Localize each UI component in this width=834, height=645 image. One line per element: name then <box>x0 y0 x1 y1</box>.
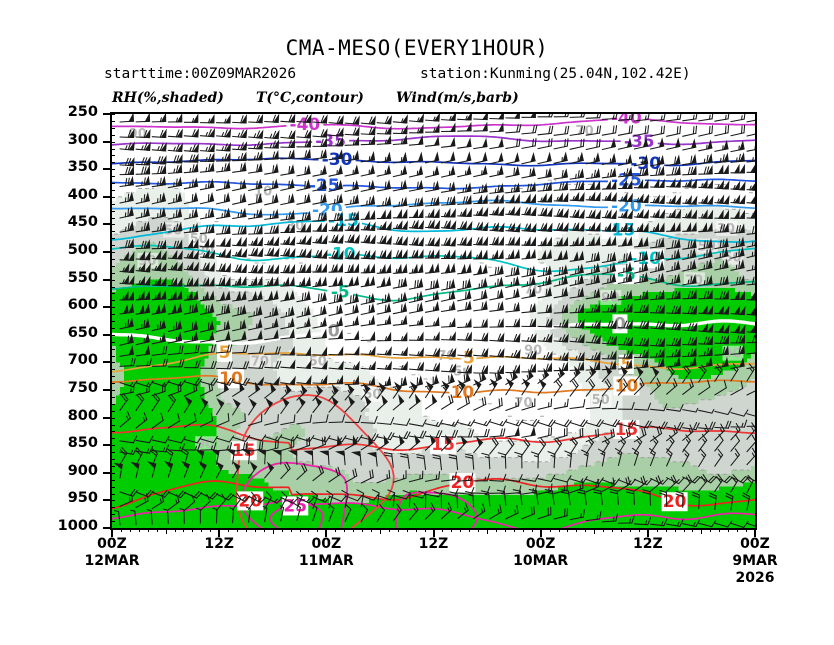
x-axis-minor-tick <box>657 529 658 532</box>
temp-contour--35 <box>112 136 755 145</box>
x-axis-label-1: 12Z <box>174 536 264 553</box>
y-axis-minor-tick <box>111 404 115 405</box>
y-axis-minor-tick <box>111 466 115 467</box>
y-axis-label-750: 750 <box>36 380 98 396</box>
y-axis-label-950: 950 <box>36 490 98 506</box>
x-axis-minor-tick <box>380 529 381 534</box>
y-axis-tick <box>103 417 111 419</box>
svg-text:10: 10 <box>219 369 243 389</box>
y-axis-label-300: 300 <box>36 132 98 148</box>
x-axis-minor-tick <box>353 529 354 532</box>
y-axis-minor-tick <box>111 342 115 343</box>
y-axis-minor-tick <box>111 149 115 150</box>
y-axis-minor-tick <box>111 500 115 501</box>
y-axis-minor-tick <box>111 135 115 136</box>
y-axis-minor-tick <box>111 280 115 281</box>
x-axis-minor-tick <box>398 529 399 532</box>
x-axis-minor-tick <box>541 529 542 534</box>
y-axis-tick <box>103 168 111 170</box>
x-axis-minor-tick <box>210 529 211 532</box>
chart-canvas: CMA-MESO(EVERY1HOUR) starttime:00Z09MAR2… <box>0 0 834 645</box>
y-axis-minor-tick <box>111 445 115 446</box>
y-axis-minor-tick <box>111 190 115 191</box>
x-axis-minor-tick <box>344 529 345 532</box>
y-axis-minor-tick <box>111 114 115 115</box>
y-axis-minor-tick <box>111 349 115 350</box>
y-axis-minor-tick <box>111 431 115 432</box>
y-axis-tick <box>103 334 111 336</box>
y-axis-minor-tick <box>111 390 115 391</box>
y-axis-tick <box>103 306 111 308</box>
x-axis-minor-tick <box>550 529 551 532</box>
x-axis-minor-tick <box>514 529 515 532</box>
y-axis-tick <box>103 444 111 446</box>
plot-area: 1030307050509090707050503070905070705090… <box>110 112 757 530</box>
x-axis-minor-tick <box>603 529 604 532</box>
y-axis-minor-tick <box>111 197 115 198</box>
x-axis-minor-tick <box>612 529 613 532</box>
y-axis-tick <box>103 361 111 363</box>
y-axis-label-650: 650 <box>36 325 98 341</box>
y-axis-minor-tick <box>111 369 115 370</box>
y-axis-minor-tick <box>111 521 115 522</box>
x-axis-minor-tick <box>183 529 184 532</box>
x-axis-minor-tick <box>157 529 158 532</box>
y-axis-minor-tick <box>111 411 115 412</box>
x-axis-minor-tick <box>308 529 309 532</box>
svg-text:25: 25 <box>283 496 307 516</box>
svg-text:15: 15 <box>431 435 455 455</box>
y-axis-minor-tick <box>111 155 115 156</box>
y-axis-label-550: 550 <box>36 270 98 286</box>
x-axis-minor-tick <box>719 529 720 532</box>
x-axis-label-0: 00Z12MAR <box>67 536 157 570</box>
y-axis-label-450: 450 <box>36 214 98 230</box>
x-axis-minor-tick <box>666 529 667 532</box>
y-axis-tick <box>103 141 111 143</box>
y-axis-label-700: 700 <box>36 352 98 368</box>
y-axis-minor-tick <box>111 238 115 239</box>
x-axis-minor-tick <box>639 529 640 532</box>
y-axis-minor-tick <box>111 356 115 357</box>
x-axis-minor-tick <box>460 529 461 532</box>
y-axis-minor-tick <box>111 169 115 170</box>
legend-temperature: T(°C,contour) <box>256 90 364 106</box>
legend-rh: RH(%,shaded) <box>112 90 224 106</box>
y-axis-tick <box>103 113 111 115</box>
x-axis-minor-tick <box>255 529 256 532</box>
y-axis-minor-tick <box>111 383 115 384</box>
x-axis-minor-tick <box>228 529 229 532</box>
x-axis-minor-tick <box>710 529 711 532</box>
x-axis-minor-tick <box>532 529 533 532</box>
x-axis-minor-tick <box>442 529 443 532</box>
x-axis-minor-tick <box>112 529 113 534</box>
y-axis-minor-tick <box>111 507 115 508</box>
y-axis-minor-tick <box>111 494 115 495</box>
y-axis-tick <box>103 279 111 281</box>
x-axis-minor-tick <box>237 529 238 532</box>
y-axis-minor-tick <box>111 128 115 129</box>
y-axis-minor-tick <box>111 335 115 336</box>
y-axis-minor-tick <box>111 438 115 439</box>
legend-wind: Wind(m/s,barb) <box>396 90 519 106</box>
x-axis-minor-tick <box>246 529 247 532</box>
y-axis-minor-tick <box>111 300 115 301</box>
y-axis-minor-tick <box>111 293 115 294</box>
x-axis-minor-tick <box>282 529 283 532</box>
x-axis-minor-tick <box>505 529 506 532</box>
y-axis-minor-tick <box>111 121 115 122</box>
x-axis-minor-tick <box>416 529 417 532</box>
x-axis-minor-tick <box>175 529 176 532</box>
svg-text:-40: -40 <box>611 114 642 129</box>
x-axis-minor-tick <box>219 529 220 534</box>
y-axis-minor-tick <box>111 452 115 453</box>
x-axis-minor-tick <box>407 529 408 532</box>
x-axis-minor-tick <box>478 529 479 532</box>
y-axis-minor-tick <box>111 473 115 474</box>
x-axis-minor-tick <box>755 529 756 534</box>
y-axis-tick <box>103 472 111 474</box>
y-axis-tick <box>103 251 111 253</box>
y-axis-minor-tick <box>111 204 115 205</box>
y-axis-minor-tick <box>111 314 115 315</box>
x-axis-minor-tick <box>585 529 586 532</box>
x-axis-minor-tick <box>469 529 470 532</box>
y-axis-minor-tick <box>111 376 115 377</box>
station-label: station:Kunming(25.04N,102.42E) <box>420 66 691 82</box>
y-axis-label-500: 500 <box>36 242 98 258</box>
y-axis-label-900: 900 <box>36 463 98 479</box>
y-axis-minor-tick <box>111 397 115 398</box>
y-axis-minor-tick <box>111 425 115 426</box>
y-axis-minor-tick <box>111 487 115 488</box>
x-axis-minor-tick <box>273 529 274 534</box>
y-axis-label-600: 600 <box>36 297 98 313</box>
x-axis-label-3: 12Z <box>389 536 479 553</box>
x-axis-minor-tick <box>594 529 595 534</box>
y-axis-minor-tick <box>111 287 115 288</box>
x-axis-minor-tick <box>148 529 149 532</box>
x-axis-minor-tick <box>264 529 265 532</box>
y-axis-minor-tick <box>111 176 115 177</box>
x-axis-minor-tick <box>371 529 372 532</box>
x-axis-minor-tick <box>523 529 524 532</box>
y-axis-minor-tick <box>111 252 115 253</box>
x-axis-minor-tick <box>567 529 568 532</box>
y-axis-label-800: 800 <box>36 408 98 424</box>
y-axis-minor-tick <box>111 307 115 308</box>
y-axis-minor-tick <box>111 273 115 274</box>
x-axis-minor-tick <box>166 529 167 534</box>
x-axis-minor-tick <box>630 529 631 532</box>
x-axis-minor-tick <box>728 529 729 532</box>
x-axis-label-6: 00Z9MAR2026 <box>710 536 800 587</box>
x-axis-minor-tick <box>701 529 702 534</box>
y-axis-minor-tick <box>111 218 115 219</box>
y-axis-minor-tick <box>111 514 115 515</box>
x-axis-minor-tick <box>487 529 488 534</box>
x-axis-minor-tick <box>317 529 318 532</box>
y-axis-minor-tick <box>111 162 115 163</box>
y-axis-label-250: 250 <box>36 104 98 120</box>
x-axis-minor-tick <box>139 529 140 532</box>
starttime-label: starttime:00Z09MAR2026 <box>104 66 296 82</box>
y-axis-minor-tick <box>111 259 115 260</box>
x-axis-minor-tick <box>192 529 193 532</box>
svg-text:70: 70 <box>514 396 532 411</box>
x-axis-label-4: 00Z10MAR <box>496 536 586 570</box>
x-axis-minor-tick <box>684 529 685 532</box>
x-axis-label-5: 12Z <box>603 536 693 553</box>
y-axis-minor-tick <box>111 362 115 363</box>
y-axis-minor-tick <box>111 245 115 246</box>
y-axis-minor-tick <box>111 231 115 232</box>
y-axis-label-850: 850 <box>36 435 98 451</box>
y-axis-tick <box>103 527 111 529</box>
y-axis-minor-tick <box>111 211 115 212</box>
cross-section-svg: 1030307050509090707050503070905070705090… <box>112 114 755 528</box>
y-axis-minor-tick <box>111 183 115 184</box>
y-axis-minor-tick <box>111 266 115 267</box>
x-axis-minor-tick <box>737 529 738 532</box>
y-axis-tick <box>103 499 111 501</box>
svg-text:20: 20 <box>451 473 475 493</box>
x-axis-minor-tick <box>692 529 693 532</box>
x-axis-minor-tick <box>648 529 649 534</box>
y-axis-minor-tick <box>111 418 115 419</box>
y-axis-minor-tick <box>111 224 115 225</box>
y-axis-minor-tick <box>111 321 115 322</box>
x-axis-minor-tick <box>300 529 301 532</box>
page-title: CMA-MESO(EVERY1HOUR) <box>0 36 834 60</box>
svg-text:5: 5 <box>463 349 475 369</box>
y-axis-minor-tick <box>111 459 115 460</box>
svg-text:50: 50 <box>592 393 610 408</box>
x-axis-minor-tick <box>434 529 435 534</box>
y-axis-tick <box>103 223 111 225</box>
y-axis-label-400: 400 <box>36 187 98 203</box>
x-axis-minor-tick <box>496 529 497 532</box>
y-axis-label-350: 350 <box>36 159 98 175</box>
x-axis-label-2: 00Z11MAR <box>281 536 371 570</box>
x-axis-minor-tick <box>559 529 560 532</box>
x-axis-minor-tick <box>389 529 390 532</box>
x-axis-minor-tick <box>326 529 327 534</box>
x-axis-minor-tick <box>675 529 676 532</box>
x-axis-minor-tick <box>130 529 131 532</box>
y-axis-tick <box>103 196 111 198</box>
x-axis-minor-tick <box>291 529 292 532</box>
x-axis-minor-tick <box>201 529 202 532</box>
y-axis-minor-tick <box>111 142 115 143</box>
x-axis-minor-tick <box>362 529 363 532</box>
x-axis-minor-tick <box>746 529 747 532</box>
x-axis-minor-tick <box>425 529 426 532</box>
y-axis-minor-tick <box>111 328 115 329</box>
y-axis-tick <box>103 389 111 391</box>
x-axis-minor-tick <box>621 529 622 532</box>
x-axis-minor-tick <box>451 529 452 532</box>
y-axis-minor-tick <box>111 528 115 529</box>
y-axis-minor-tick <box>111 480 115 481</box>
x-axis-minor-tick <box>576 529 577 532</box>
x-axis-minor-tick <box>335 529 336 532</box>
x-axis-minor-tick <box>121 529 122 532</box>
y-axis-label-1000: 1000 <box>36 518 98 534</box>
